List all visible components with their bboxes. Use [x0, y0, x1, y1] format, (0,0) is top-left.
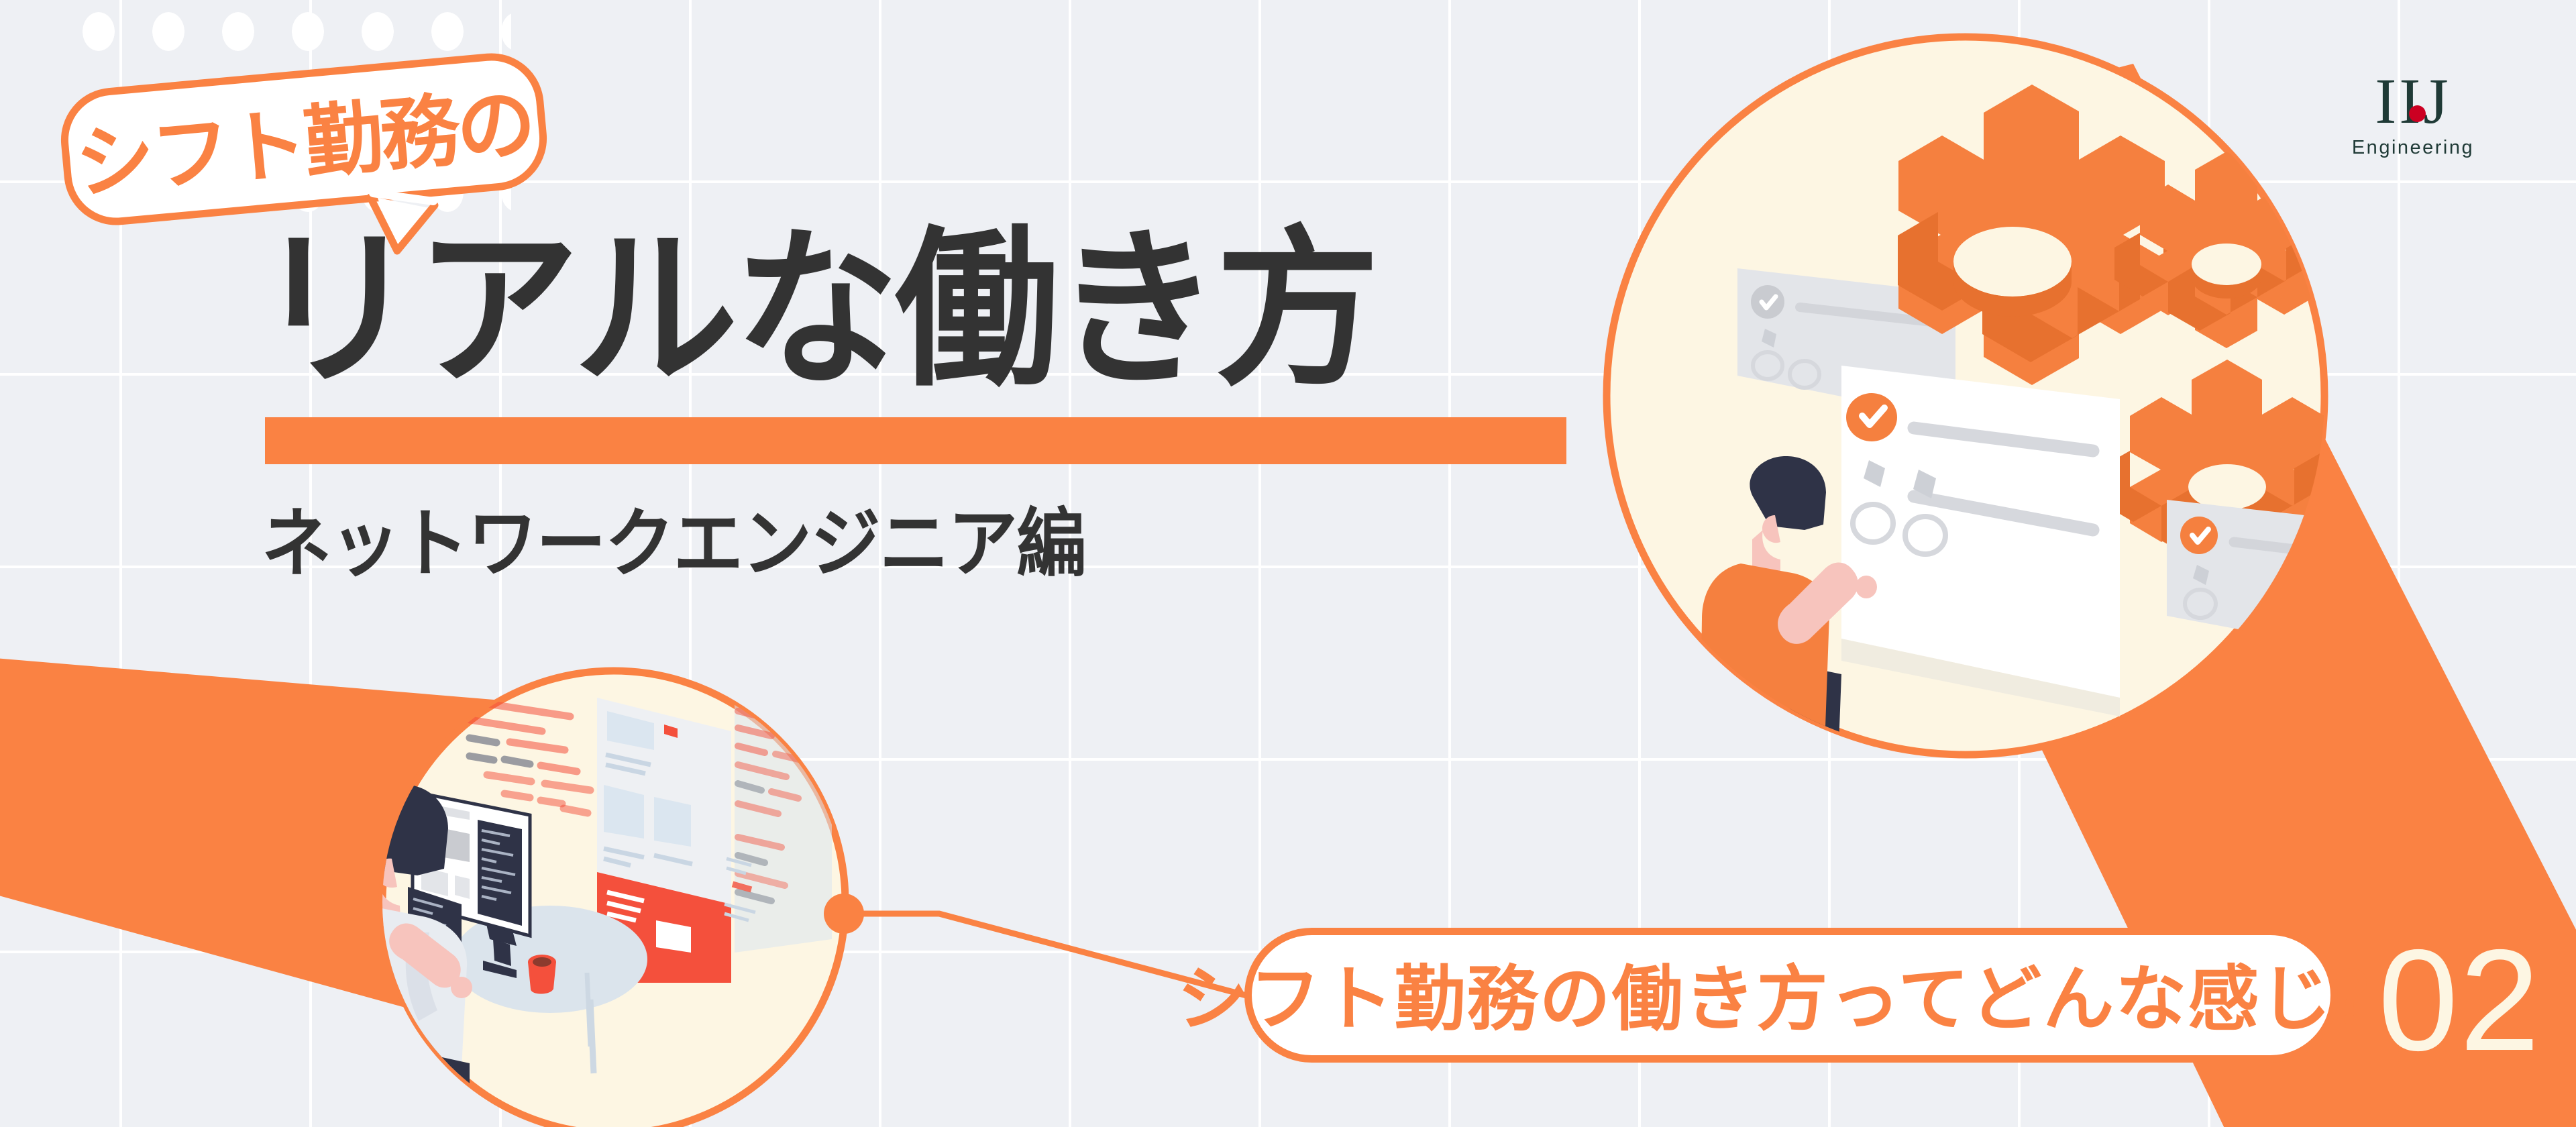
poster-canvas: リアルな働き方 ネットワークエンジニア編 シフト勤務の シフト勤務の働き方ってど…: [0, 0, 2576, 1127]
logo-mark-text: IIJ: [2375, 65, 2451, 137]
section-number-badge: 02: [2378, 928, 2541, 1072]
iij-engineering-logo: IIJ Engineering: [2329, 70, 2497, 171]
bottom-question-pill[interactable]: シフト勤務の働き方ってどんな感じ？: [1244, 928, 2338, 1063]
task-card-front: [1841, 366, 2120, 716]
logo-wordmark: IIJ: [2375, 70, 2451, 131]
left-illustration-group: [307, 671, 1246, 1127]
logo-red-dot-icon: [2409, 105, 2426, 122]
coffee-cup: [528, 955, 556, 994]
bottom-question-text: シフト勤務の働き方ってどんな感じ？: [1252, 932, 2330, 1053]
logo-subtitle: Engineering: [2329, 137, 2497, 159]
